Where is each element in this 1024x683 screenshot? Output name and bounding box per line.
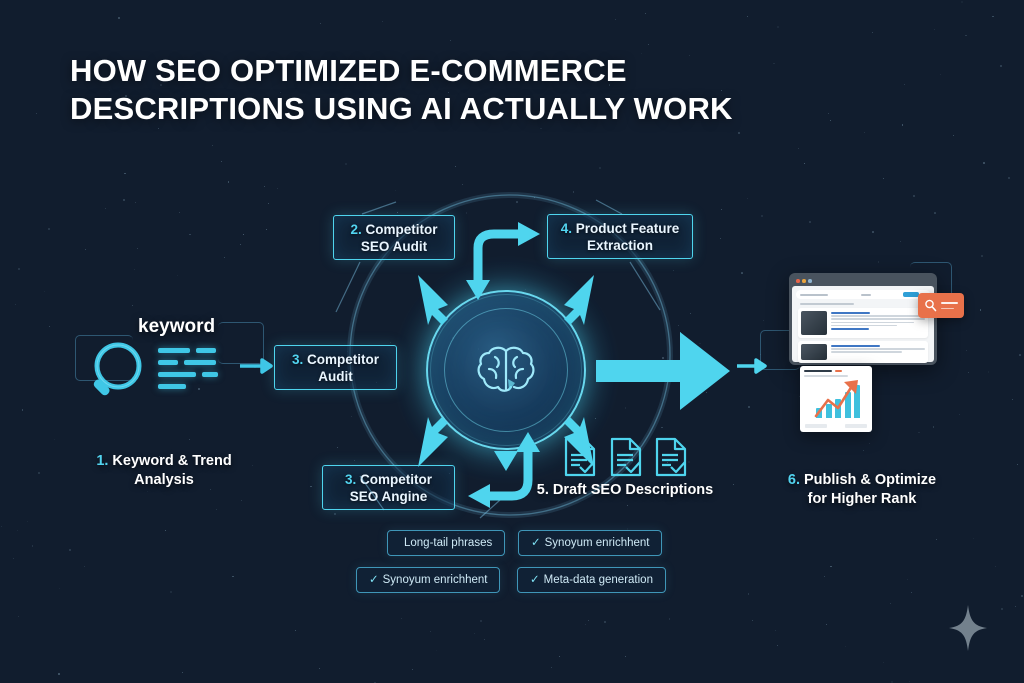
address-action-button[interactable] [903, 292, 919, 297]
result-title [831, 345, 880, 347]
window-close-dot [796, 279, 800, 283]
browser-window-icon[interactable] [789, 273, 937, 365]
pill-check-icon: ✓ [530, 574, 540, 586]
keyword-text-line [196, 348, 216, 353]
pill-synonym-enrichment-top[interactable]: ✓Synoyum enrichhent [518, 530, 662, 556]
chart-badge [835, 370, 842, 372]
result-line [831, 325, 897, 327]
arrow-right-small-icon [737, 358, 767, 374]
result-thumbnail [801, 344, 827, 360]
arrow-right-icon [596, 330, 732, 412]
pill-label: Synoyum enrichhent [545, 537, 650, 549]
arrow-right-small-icon [240, 358, 274, 374]
pill-label: Long-tail phrases [404, 537, 492, 549]
chart-subtitle [804, 375, 848, 377]
badge-line [941, 302, 958, 304]
result-text [831, 344, 925, 360]
window-minimize-dot [802, 279, 806, 283]
chart-card-header [804, 370, 868, 372]
flow-arrow-bottom [460, 440, 542, 512]
step-6-line1: Publish & Optimize [800, 472, 936, 488]
search-icon [924, 299, 937, 312]
step-1-caption: 1. Keyword & Trend Analysis [78, 452, 250, 490]
result-line [831, 315, 925, 317]
step-6-line2: for Higher Rank [808, 491, 917, 507]
address-meta [861, 294, 871, 296]
step-1-number: 1. [96, 453, 108, 469]
keyword-text-line [158, 372, 196, 377]
infographic-canvas: HOW SEO OPTIMIZED E-COMMERCE DESCRIPTION… [0, 0, 1024, 683]
result-line [831, 322, 914, 324]
badge-line [941, 308, 954, 310]
result-line [831, 348, 925, 350]
step-5-caption: 5. Draft SEO Descriptions [520, 481, 730, 500]
keyword-text-line [202, 372, 218, 377]
result-card[interactable] [798, 341, 928, 363]
magnifier-icon [84, 338, 156, 410]
keyword-text-line [158, 360, 178, 365]
document-check-icon [608, 436, 644, 478]
breadcrumb [800, 303, 854, 305]
result-text [831, 311, 925, 335]
document-check-icon [562, 436, 598, 478]
keyword-text-line [184, 360, 216, 365]
page-title: HOW SEO OPTIMIZED E-COMMERCE DESCRIPTION… [70, 52, 733, 128]
result-line [831, 318, 925, 320]
result-line [831, 328, 869, 330]
pill-check-icon: ✓ [531, 537, 541, 549]
step-6-number: 6. [788, 472, 800, 488]
search-badge-lines [941, 302, 958, 309]
step-6-caption: 6. Publish & Optimize for Higher Rank [760, 471, 964, 509]
pill-label: Meta-data generation [544, 574, 653, 586]
keyword-text-line [158, 348, 190, 353]
chart-trend-arrow [814, 378, 868, 420]
window-maximize-dot [808, 279, 812, 283]
sparkle-star-icon [948, 605, 988, 651]
result-thumbnail [801, 311, 827, 335]
pill-synonym-enrichment-bottom[interactable]: ✓Synoyum enrichhent [356, 567, 500, 593]
keyword-text-line [158, 384, 186, 389]
pill-check-icon: ✓ [369, 574, 379, 586]
browser-address-bar[interactable] [796, 290, 930, 299]
browser-content [792, 286, 934, 362]
document-check-icon [653, 436, 689, 478]
result-title [831, 312, 870, 314]
pill-long-tail-phrases[interactable]: Long-tail phrases [387, 530, 505, 556]
step-1-line1: Keyword & Trend [108, 453, 231, 469]
pill-meta-data-generation[interactable]: ✓Meta-data generation [517, 567, 666, 593]
chart-title [804, 370, 832, 372]
keyword-label: keyword [138, 316, 215, 338]
result-line [831, 351, 902, 353]
flow-arrow-top [470, 222, 552, 294]
address-text [800, 294, 828, 296]
search-badge[interactable] [918, 293, 964, 318]
pill-label: Synoyum enrichhent [383, 574, 488, 586]
step-5-label: 5. Draft SEO Descriptions [537, 482, 713, 498]
chart-footer [805, 424, 867, 428]
step-1-line2: Analysis [134, 472, 194, 488]
result-card[interactable] [798, 308, 928, 338]
bar-chart-trend-icon[interactable] [800, 366, 872, 432]
browser-titlebar [792, 276, 934, 286]
